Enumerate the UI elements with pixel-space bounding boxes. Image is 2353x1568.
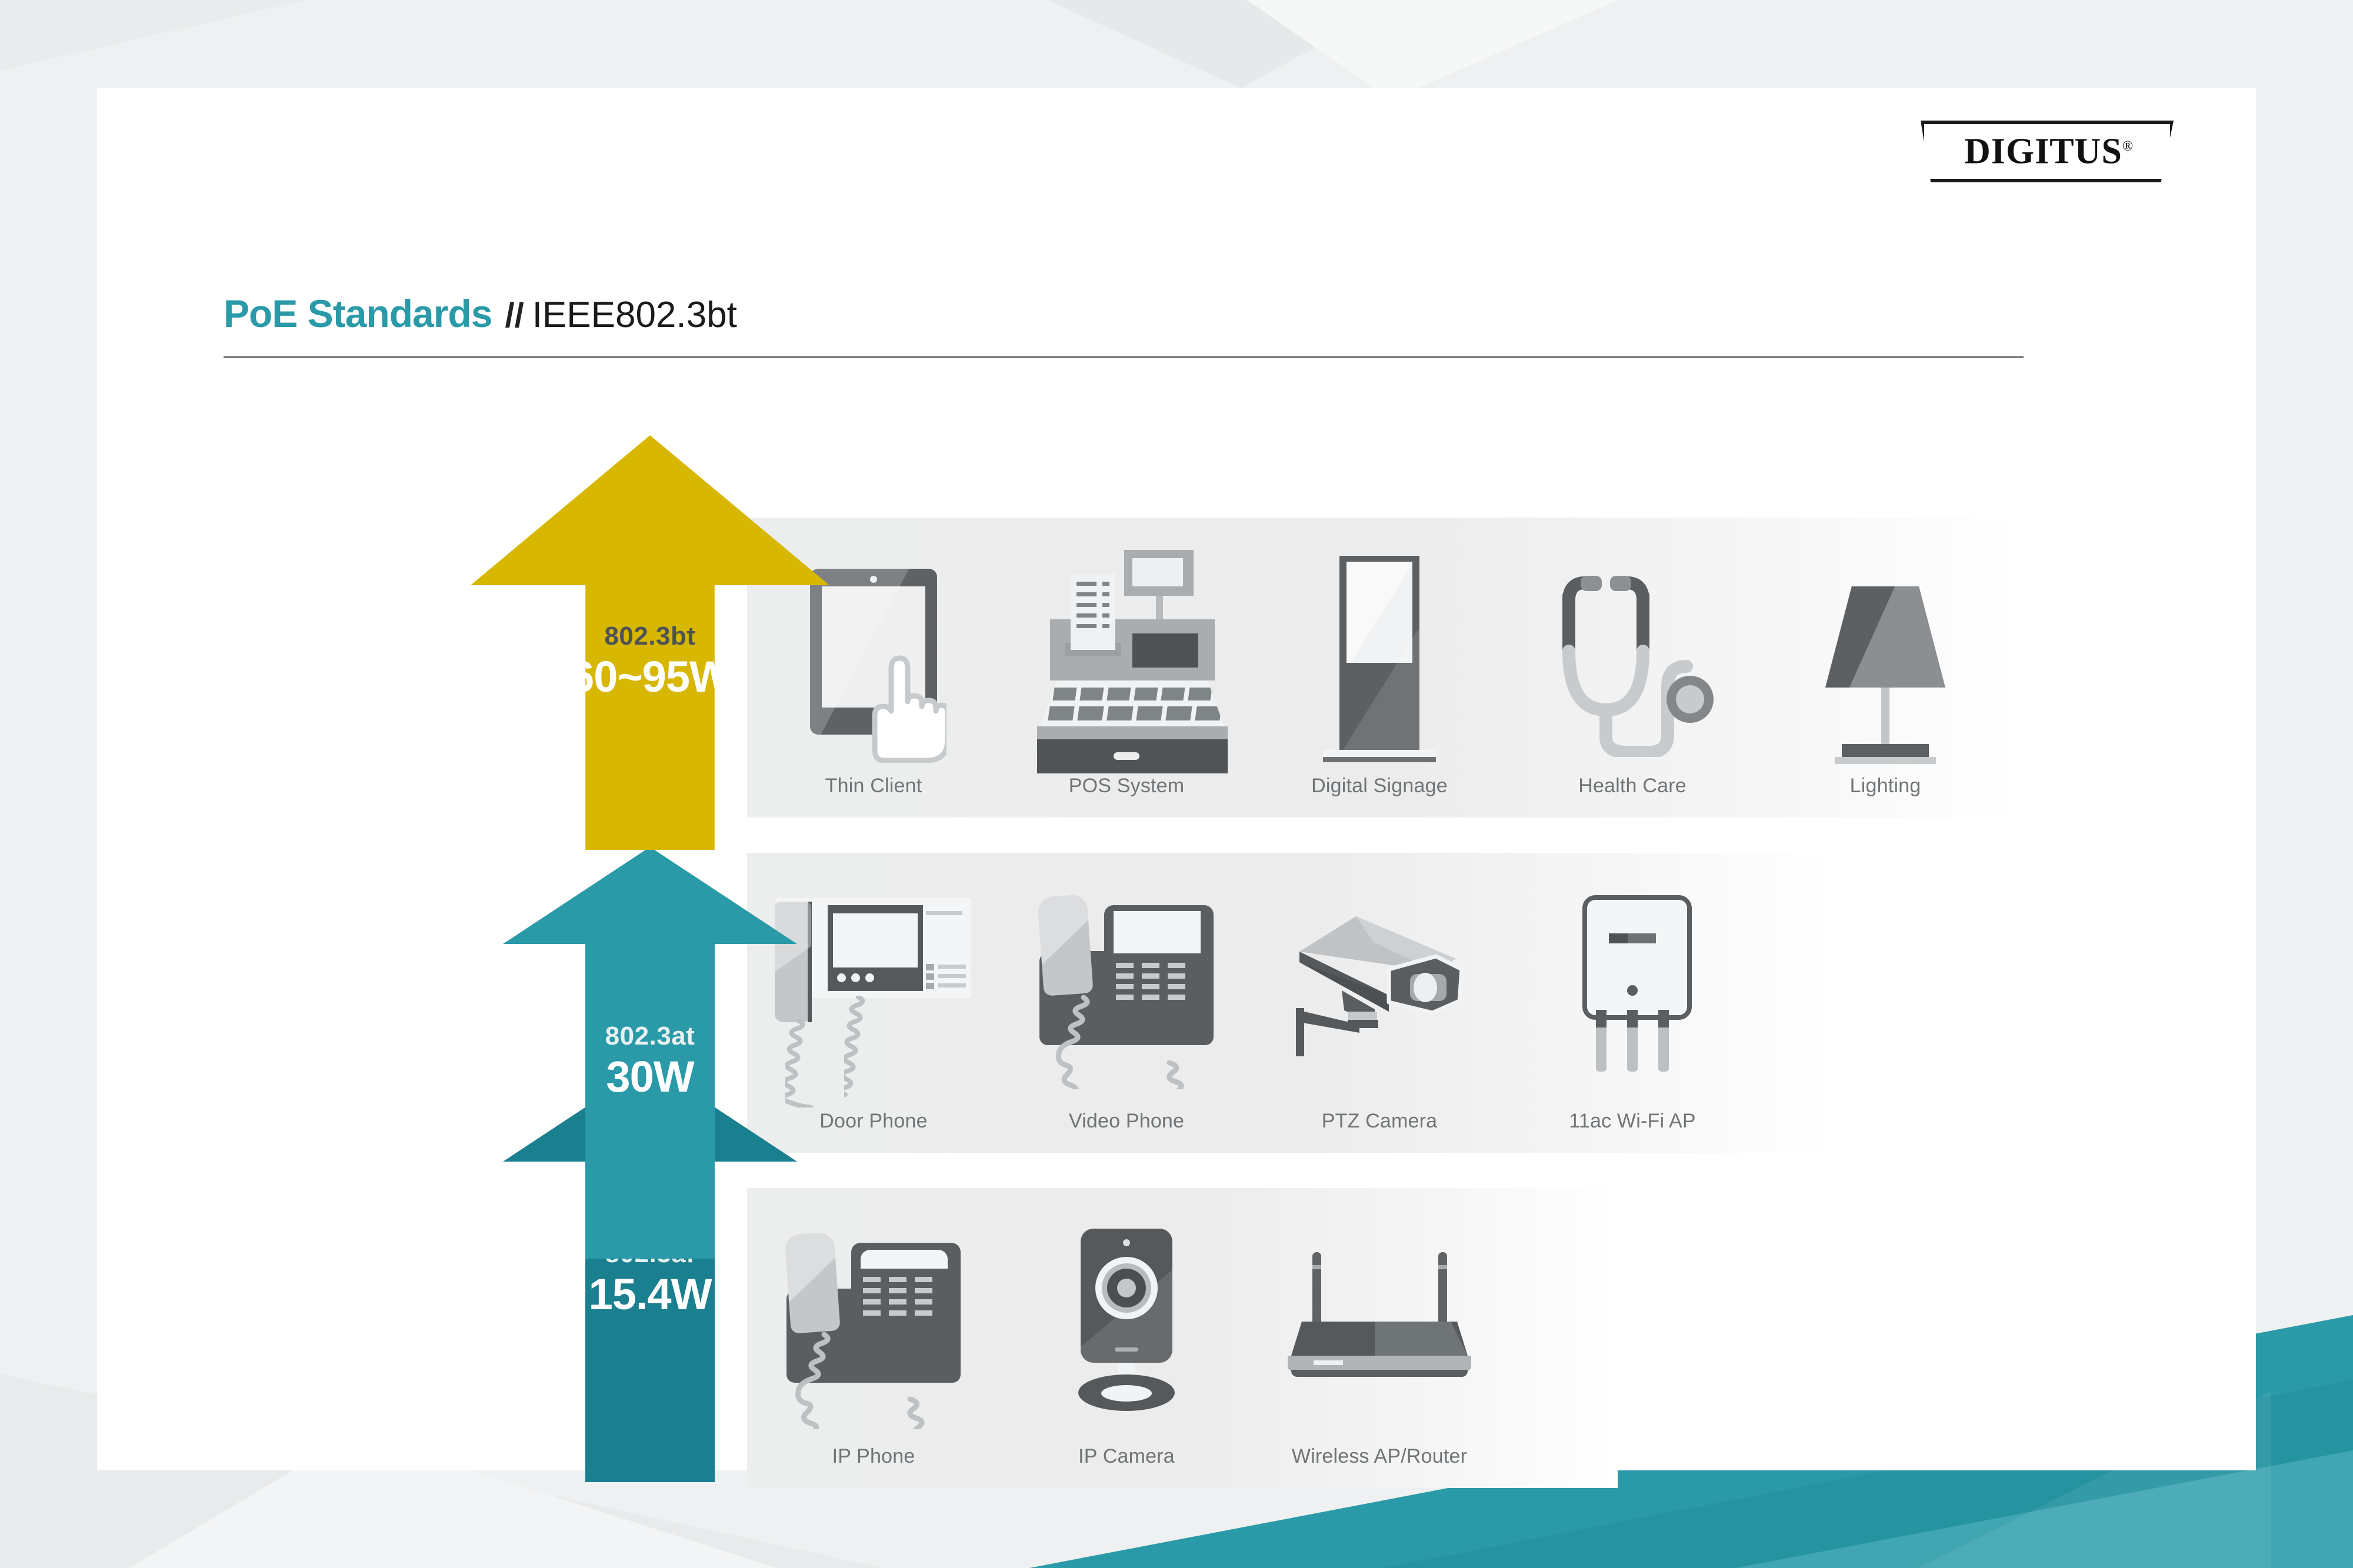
- title-divider: [224, 356, 2024, 358]
- poe-tier-arrow-at: 802.3at 30W: [503, 847, 797, 1259]
- wifi-access-point-icon: [1506, 880, 1759, 1110]
- coiled-cord-icon: [772, 1332, 966, 1429]
- device-label: IP Camera: [1078, 1445, 1175, 1488]
- page-title: PoE Standards//IEEE802.3bt: [224, 291, 737, 336]
- table-lamp-icon: [1759, 545, 2012, 775]
- device-label: PTZ Camera: [1322, 1110, 1438, 1153]
- device-label: POS System: [1069, 775, 1185, 818]
- device-cell-ip-camera: IP Camera: [1000, 1188, 1253, 1488]
- page-title-separator: //: [505, 296, 524, 335]
- device-label: Video Phone: [1069, 1110, 1184, 1153]
- device-label: 11ac Wi-Fi AP: [1569, 1110, 1695, 1153]
- device-label: Door Phone: [819, 1110, 927, 1153]
- logo-trademark: ®: [2122, 138, 2134, 154]
- ptz-camera-icon: [1253, 880, 1506, 1110]
- ip-camera-icon: [1000, 1216, 1253, 1445]
- digitus-logo: DIGITUS®: [1921, 121, 2174, 182]
- device-label: Lighting: [1850, 775, 1921, 818]
- device-cell-ptz-camera: PTZ Camera: [1253, 853, 1506, 1153]
- pointing-hand-icon: [864, 645, 946, 763]
- device-label: Digital Signage: [1311, 775, 1448, 818]
- device-cell-wifi-ap: 11ac Wi-Fi AP: [1506, 853, 1759, 1153]
- device-row-af: IP Phone IP Camera: [747, 1188, 1618, 1488]
- device-cell-health-care: Health Care: [1506, 518, 1759, 818]
- poe-tier-arrow-bt: 802.3bt 60~95W: [471, 435, 829, 850]
- device-cell-wireless-router: Wireless AP/Router: [1253, 1188, 1506, 1488]
- device-label: IP Phone: [832, 1445, 915, 1488]
- page-title-main: PoE Standards: [224, 292, 492, 335]
- wireless-router-icon: [1253, 1216, 1506, 1445]
- device-label: Wireless AP/Router: [1292, 1445, 1467, 1488]
- device-cell-lighting: Lighting: [1759, 518, 2012, 818]
- device-cell-video-phone: Video Phone: [1000, 853, 1253, 1153]
- arrow-shape: [471, 435, 829, 850]
- slide-card: DIGITUS® PoE Standards//IEEE802.3bt Thin…: [97, 88, 2256, 1470]
- device-cell-digital-signage: Digital Signage: [1253, 518, 1506, 818]
- signage-kiosk-icon: [1253, 545, 1506, 775]
- logo-wordmark: DIGITUS®: [1921, 131, 2174, 172]
- coiled-cord-icon: [844, 996, 915, 1107]
- device-label: Thin Client: [825, 775, 922, 818]
- coiled-cord-icon: [1029, 995, 1224, 1089]
- page-title-sub: IEEE802.3bt: [532, 295, 737, 335]
- device-cell-pos-system: POS System: [1000, 518, 1253, 818]
- device-row-at: Door Phone: [747, 853, 1829, 1153]
- cash-register-icon: [1000, 545, 1253, 775]
- logo-text: DIGITUS: [1964, 131, 2122, 171]
- stethoscope-icon: [1506, 545, 1759, 775]
- arrow-shape: [503, 847, 797, 1259]
- video-phone-icon: [1000, 880, 1253, 1110]
- device-label: Health Care: [1578, 775, 1687, 818]
- device-row-bt: Thin Client: [747, 518, 2018, 818]
